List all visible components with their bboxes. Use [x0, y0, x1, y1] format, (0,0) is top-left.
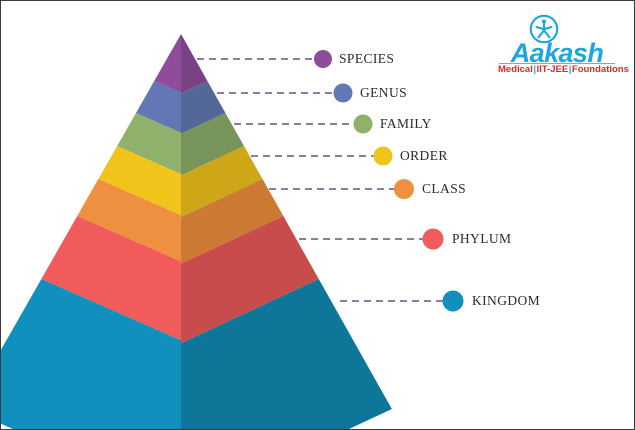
- callout-dot-order: [374, 147, 393, 166]
- callout-dot-phylum: [423, 229, 444, 250]
- logo-tagline-part: IIT-JEE: [537, 64, 569, 75]
- pyramid-left-faces: [1, 34, 181, 430]
- logo-tagline-part: Foundations: [572, 64, 629, 75]
- rank-label-family: FAMILY: [380, 117, 432, 131]
- rank-label-order: ORDER: [400, 149, 448, 163]
- diagram-canvas: SPECIESGENUSFAMILYORDERCLASSPHYLUMKINGDO…: [0, 0, 635, 430]
- rank-label-genus: GENUS: [360, 86, 407, 100]
- rank-label-species: SPECIES: [339, 52, 394, 66]
- rank-label-class: CLASS: [422, 182, 466, 196]
- callout-dot-class: [394, 179, 414, 199]
- callout-dot-kingdom: [443, 291, 464, 312]
- aakash-logo: Aakash Medical|IIT-JEE|Foundations: [498, 13, 616, 79]
- callout-dot-family: [354, 115, 373, 134]
- logo-tagline: Medical|IIT-JEE|Foundations: [498, 65, 616, 75]
- callout-dot-genus: [334, 84, 353, 103]
- rank-label-phylum: PHYLUM: [452, 232, 511, 246]
- rank-label-kingdom: KINGDOM: [472, 294, 540, 308]
- callout-dot-species: [314, 50, 332, 68]
- logo-tagline-part: Medical: [498, 64, 533, 75]
